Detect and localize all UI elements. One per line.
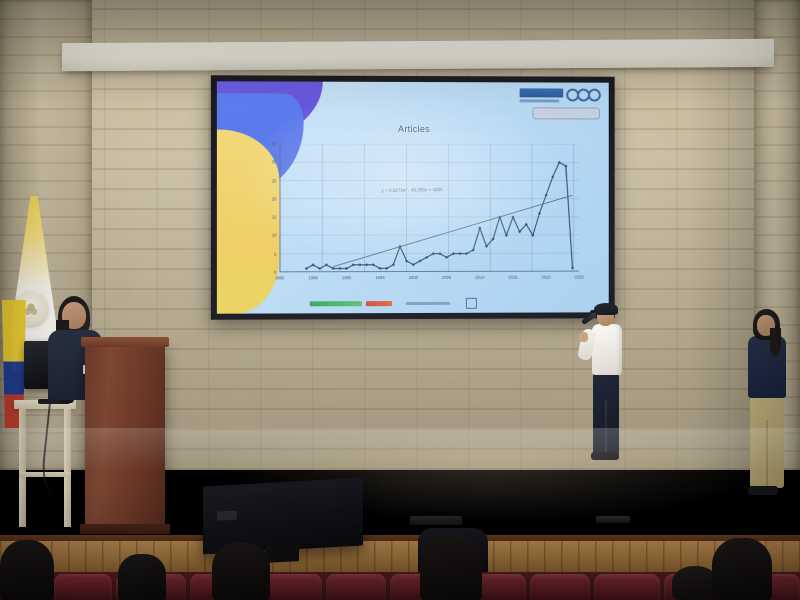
sponsor-green-icon (310, 301, 362, 306)
audience-head (118, 554, 166, 600)
data-point (538, 212, 541, 215)
slide-decor-yellow (217, 130, 280, 314)
y-tick-0: 0 (274, 270, 276, 275)
x-tick-2000: 2000 (409, 275, 418, 280)
attendee-hair-long (770, 328, 781, 356)
series-0-line (306, 162, 572, 268)
data-point (458, 252, 461, 255)
series-1-line (333, 195, 572, 266)
chart-series-layer (279, 144, 579, 273)
partner-logo-icon (568, 89, 601, 102)
slide-header-logos (520, 88, 601, 102)
data-point (338, 267, 341, 270)
x-tick-1985: 1985 (308, 275, 317, 280)
data-point (505, 234, 508, 237)
slide-footer-logos (310, 298, 603, 308)
event-banner (533, 107, 600, 119)
x-tick-2010: 2010 (475, 275, 484, 280)
x-tick-2015: 2015 (508, 275, 517, 280)
data-point (358, 263, 361, 266)
stage-floor (0, 428, 800, 540)
presenter-hand (579, 332, 588, 342)
x-tick-1990: 1990 (342, 275, 351, 280)
x-tick-1980: 1980 (275, 275, 284, 280)
monitor-port-panel (217, 511, 237, 521)
chart-plot-area: 05101520253035 1980198519901995200020052… (279, 144, 579, 273)
stage-equipment-small (596, 516, 630, 523)
x-tick-2025: 2025 (574, 275, 583, 280)
data-point (571, 266, 574, 269)
sponsor-red-icon (366, 301, 392, 306)
y-tick-10: 10 (272, 233, 277, 238)
projection-screen: Articles 05101520253035 1980198519901995… (211, 75, 615, 320)
audience-head (420, 534, 482, 600)
sponsor-box-icon (466, 298, 477, 309)
audience-head (712, 538, 772, 600)
y-tick-20: 20 (272, 196, 277, 201)
data-point (365, 263, 368, 266)
university-logo-icon (520, 88, 564, 102)
sponsor-grey-icon (406, 302, 450, 305)
y-tick-30: 30 (272, 160, 277, 165)
audience-heads (0, 530, 800, 600)
slide-title: Articles (217, 124, 609, 135)
presenter-shirt (592, 324, 622, 375)
data-point (478, 226, 481, 229)
x-tick-2020: 2020 (541, 275, 550, 280)
x-tick-2005: 2005 (442, 275, 451, 280)
data-point (545, 194, 548, 197)
stage-equipment-case (410, 516, 462, 525)
presentation-slide: Articles 05101520253035 1980198519901995… (217, 81, 609, 313)
y-tick-5: 5 (274, 251, 276, 256)
y-tick-35: 35 (272, 141, 277, 146)
audience-head (0, 540, 54, 600)
structural-beam (62, 39, 774, 71)
x-tick-1995: 1995 (375, 275, 384, 280)
y-tick-15: 15 (272, 215, 277, 220)
audience-head (212, 542, 270, 600)
screenshot-root: Articles 05101520253035 1980198519901995… (0, 0, 800, 600)
y-tick-25: 25 (272, 178, 277, 183)
